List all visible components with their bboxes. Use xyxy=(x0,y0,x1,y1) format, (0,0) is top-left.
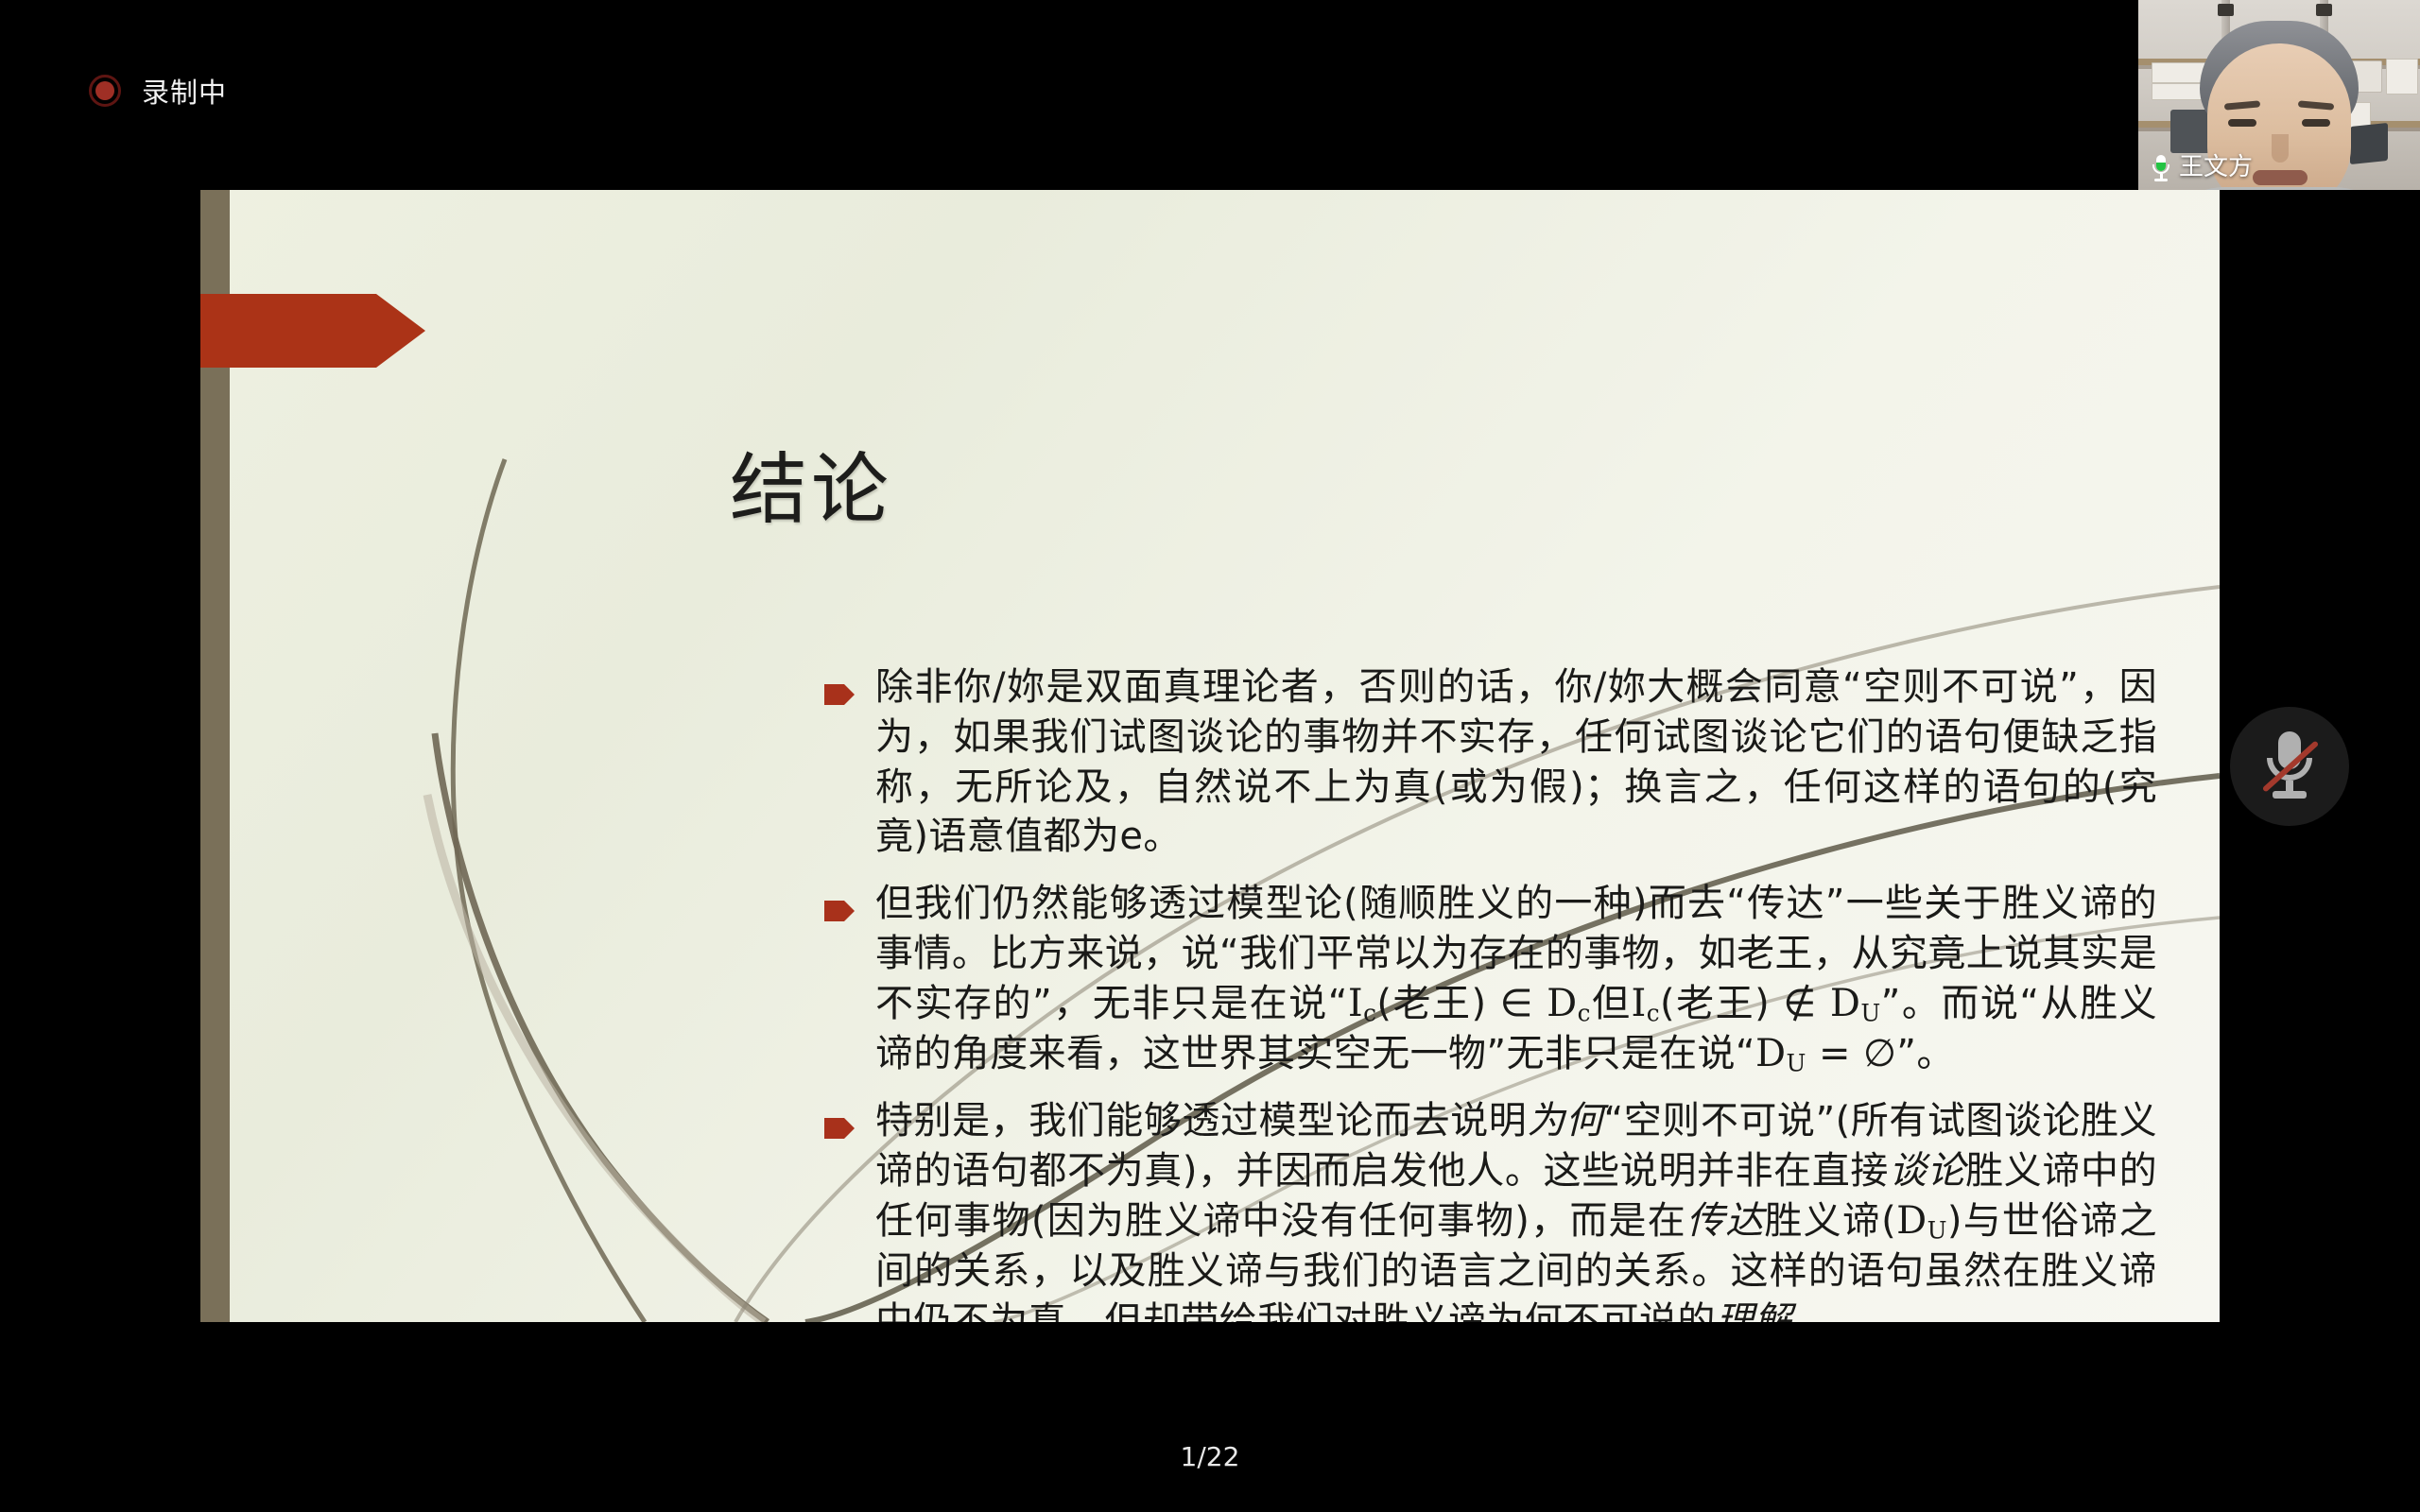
arrow-bullet-icon xyxy=(824,684,855,705)
record-dot-icon xyxy=(89,75,121,107)
microphone-active-icon xyxy=(2150,154,2172,180)
participant-name-badge: 王文方 xyxy=(2150,154,2253,180)
title-arrow-shape xyxy=(200,294,425,368)
microphone-muted-icon xyxy=(2258,731,2321,801)
bullet-item-3: 特别是，我们能够透过模型论而去说明为何“空则不可说”(所有试图谈论胜义谛的语句都… xyxy=(824,1096,2157,1322)
recording-status-indicator: 录制中 xyxy=(89,71,227,111)
bullet-text-1: 除非你/妳是双面真理论者，否则的话，你/妳大概会同意“空则不可说”，因为，如果我… xyxy=(875,662,2157,862)
bullet-item-2: 但我们仍然能够透过模型论(随顺胜义的一种)而去“传达”一些关于胜义谛的事情。比方… xyxy=(824,879,2157,1079)
meeting-presentation-view: 录制中 xyxy=(0,0,2420,1512)
bullet-item-1: 除非你/妳是双面真理论者，否则的话，你/妳大概会同意“空则不可说”，因为，如果我… xyxy=(824,662,2157,862)
arrow-bullet-icon xyxy=(824,1118,855,1139)
slide-body-bullet-list: 除非你/妳是双面真理论者，否则的话，你/妳大概会同意“空则不可说”，因为，如果我… xyxy=(824,662,2157,1322)
bullet-text-3: 特别是，我们能够透过模型论而去说明为何“空则不可说”(所有试图谈论胜义谛的语句都… xyxy=(875,1096,2157,1322)
slide-title: 结论 xyxy=(730,426,892,539)
participant-name-label: 王文方 xyxy=(2179,155,2253,180)
arrow-bullet-icon xyxy=(824,901,855,921)
mute-toggle-button[interactable] xyxy=(2230,707,2349,826)
desk-tablet xyxy=(2350,123,2388,164)
shelf-item xyxy=(2386,59,2418,94)
presentation-slide[interactable]: 结论 除非你/妳是双面真理论者，否则的话，你/妳大概会同意“空则不可说”，因为，… xyxy=(200,190,2220,1322)
recording-status-label: 录制中 xyxy=(142,71,227,111)
participant-video-tile[interactable]: 王文方 xyxy=(2138,0,2420,190)
bullet-text-2: 但我们仍然能够透过模型论(随顺胜义的一种)而去“传达”一些关于胜义谛的事情。比方… xyxy=(875,879,2157,1079)
page-indicator: 1/22 xyxy=(0,1441,2420,1472)
